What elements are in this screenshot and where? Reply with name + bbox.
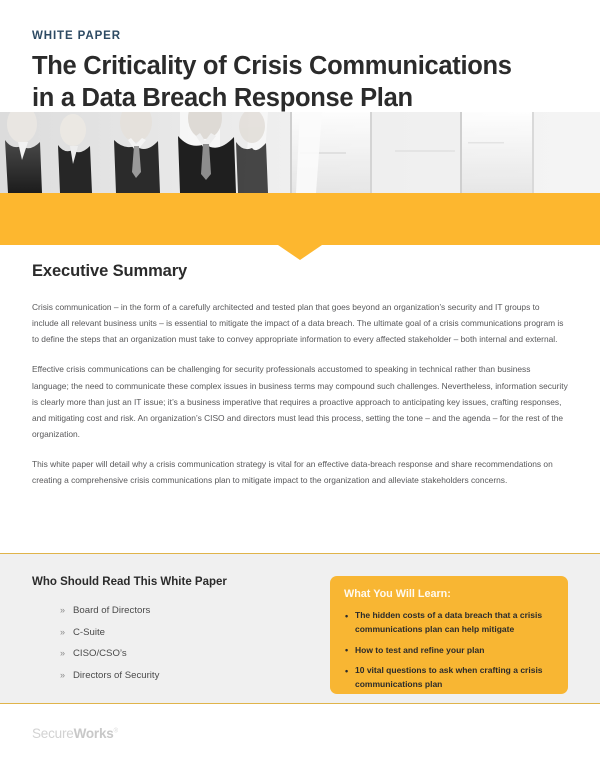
executive-summary-heading: Executive Summary	[32, 262, 568, 281]
summary-paragraph-3: This white paper will detail why a crisi…	[32, 456, 568, 488]
double-angle-bullet-icon: »	[60, 628, 65, 638]
document-footer: SecureWorks®	[0, 704, 600, 776]
audience-list: » Board of Directors » C-Suite » CISO/CS…	[32, 606, 310, 681]
amber-notch-triangle	[278, 245, 322, 260]
what-you-will-learn-callout: What You Will Learn: • The hidden costs …	[330, 576, 568, 694]
list-item: » CISO/CSO’s	[60, 649, 310, 660]
page-title: The Criticality of Crisis Communications…	[32, 50, 568, 115]
summary-paragraph-2: Effective crisis communications can be c…	[32, 361, 568, 442]
summary-paragraph-1: Crisis communication – in the form of a …	[32, 299, 568, 347]
banner-person-5	[236, 112, 268, 193]
audience-heading: Who Should Read This White Paper	[32, 576, 310, 588]
list-item: » Board of Directors	[60, 606, 310, 617]
list-item-label: Board of Directors	[73, 605, 150, 616]
callout-heading: What You Will Learn:	[344, 588, 552, 600]
logo-trademark-icon: ®	[114, 729, 118, 735]
hero-banner-image	[0, 112, 600, 193]
list-item-label: The hidden costs of a data breach that a…	[355, 610, 542, 634]
page-title-line-2: in a Data Breach Response Plan	[32, 82, 568, 115]
document-eyebrow-label: WHITE PAPER	[32, 30, 568, 44]
list-item-label: Directors of Security	[73, 670, 159, 681]
list-item: • 10 vital questions to ask when craftin…	[344, 664, 552, 692]
logo-text-secure: Secure	[32, 726, 74, 741]
list-item: » Directors of Security	[60, 671, 310, 682]
double-angle-bullet-icon: »	[60, 606, 65, 616]
list-item: » C-Suite	[60, 628, 310, 639]
executive-summary-section: Executive Summary Crisis communication –…	[0, 262, 600, 488]
list-item-label: 10 vital questions to ask when crafting …	[355, 665, 543, 689]
bottom-info-band: Who Should Read This White Paper » Board…	[0, 554, 600, 703]
double-angle-bullet-icon: »	[60, 671, 65, 681]
amber-accent-bar	[0, 193, 600, 245]
list-item: • How to test and refine your plan	[344, 644, 552, 658]
list-item-label: C-Suite	[73, 627, 105, 638]
list-item: • The hidden costs of a data breach that…	[344, 609, 552, 637]
dot-bullet-icon: •	[345, 643, 348, 658]
secureworks-logo: SecureWorks®	[32, 726, 118, 741]
list-item-label: How to test and refine your plan	[355, 645, 484, 655]
page-title-line-1: The Criticality of Crisis Communications	[32, 50, 568, 83]
double-angle-bullet-icon: »	[60, 649, 65, 659]
audience-column: Who Should Read This White Paper » Board…	[32, 576, 310, 703]
callout-list: • The hidden costs of a data breach that…	[344, 609, 552, 692]
logo-text-works: Works	[74, 726, 114, 741]
hero-banner-photo	[0, 112, 600, 193]
dot-bullet-icon: •	[345, 664, 348, 679]
white-paper-page: WHITE PAPER The Criticality of Crisis Co…	[0, 0, 600, 776]
document-header: WHITE PAPER The Criticality of Crisis Co…	[0, 0, 600, 115]
banner-person-1	[5, 112, 42, 193]
list-item-label: CISO/CSO’s	[73, 648, 127, 659]
dot-bullet-icon: •	[345, 609, 348, 624]
